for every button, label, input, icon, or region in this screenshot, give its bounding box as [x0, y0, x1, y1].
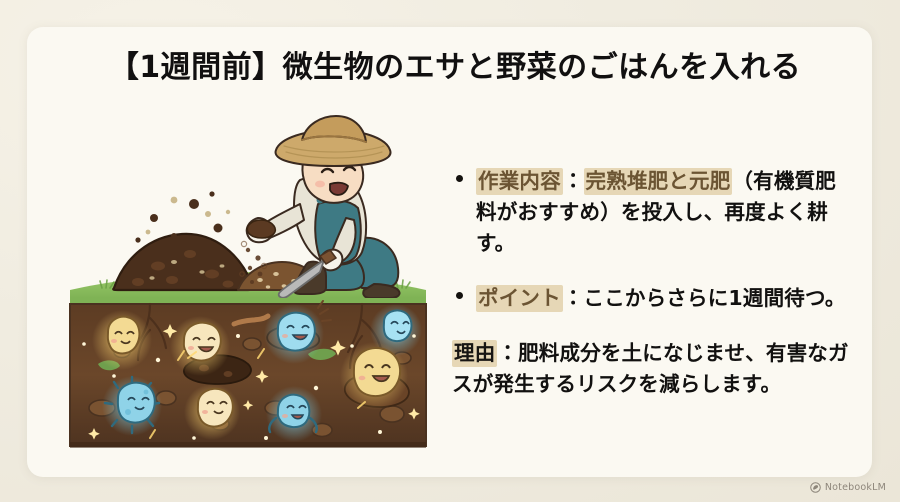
slide-canvas: 【1週間前】微生物のエサと野菜のごはんを入れる [0, 0, 900, 502]
microbe-cream-6 [184, 384, 240, 440]
content-text-column: 作業内容：完熟堆肥と元肥（有機質肥料がおすすめ）を投入し、再度よく耕す。 ポイン… [452, 166, 852, 400]
bullet-1-colon: ： [563, 169, 584, 193]
bullet-1-label-highlight: 作業内容 [476, 168, 563, 195]
bullet-item-2: ポイント：ここからさらに1週間待つ。 [452, 283, 852, 314]
reason-body: ：肥料成分を土になじませ、有害なガスが発生するリスクを減らします。 [452, 341, 849, 396]
soil-cross-section [70, 298, 426, 448]
notebooklm-watermark: NotebookLM [810, 482, 886, 493]
bullet-item-1-text: 作業内容：完熟堆肥と元肥（有機質肥料がおすすめ）を投入し、再度よく耕す。 [476, 166, 852, 259]
microbe-yellow-1 [92, 310, 152, 370]
illustration-compost-scene [62, 108, 434, 453]
reason-note: 理由：肥料成分を土になじませ、有害なガスが発生するリスクを減らします。 [452, 338, 852, 400]
reason-label-highlight: 理由 [452, 340, 497, 367]
bullet-item-2-text: ポイント：ここからさらに1週間待つ。 [476, 283, 852, 314]
bullet-marker-icon [456, 292, 463, 299]
reason-note-text: 理由：肥料成分を土になじませ、有害なガスが発生するリスクを減らします。 [452, 338, 852, 400]
notebooklm-icon [810, 482, 821, 493]
bullet-2-label-highlight: ポイント [476, 285, 563, 312]
bullet-marker-icon [456, 175, 463, 182]
page-title: 【1週間前】微生物のエサと野菜のごはんを入れる [60, 48, 850, 88]
microbe-cream-2 [170, 316, 230, 376]
bullet-1-keyword-highlight: 完熟堆肥と元肥 [584, 168, 733, 195]
microbe-blue-round-7 [266, 386, 322, 442]
bullet-item-1: 作業内容：完熟堆肥と元肥（有機質肥料がおすすめ）を投入し、再度よく耕す。 [452, 166, 852, 259]
microbe-blue-spiky-5 [102, 376, 162, 436]
farmer-scene [70, 116, 426, 298]
bullet-2-body: ：ここからさらに1週間待つ。 [563, 286, 846, 310]
notebooklm-label: NotebookLM [825, 482, 886, 493]
microbe-yellow-8 [340, 342, 408, 410]
